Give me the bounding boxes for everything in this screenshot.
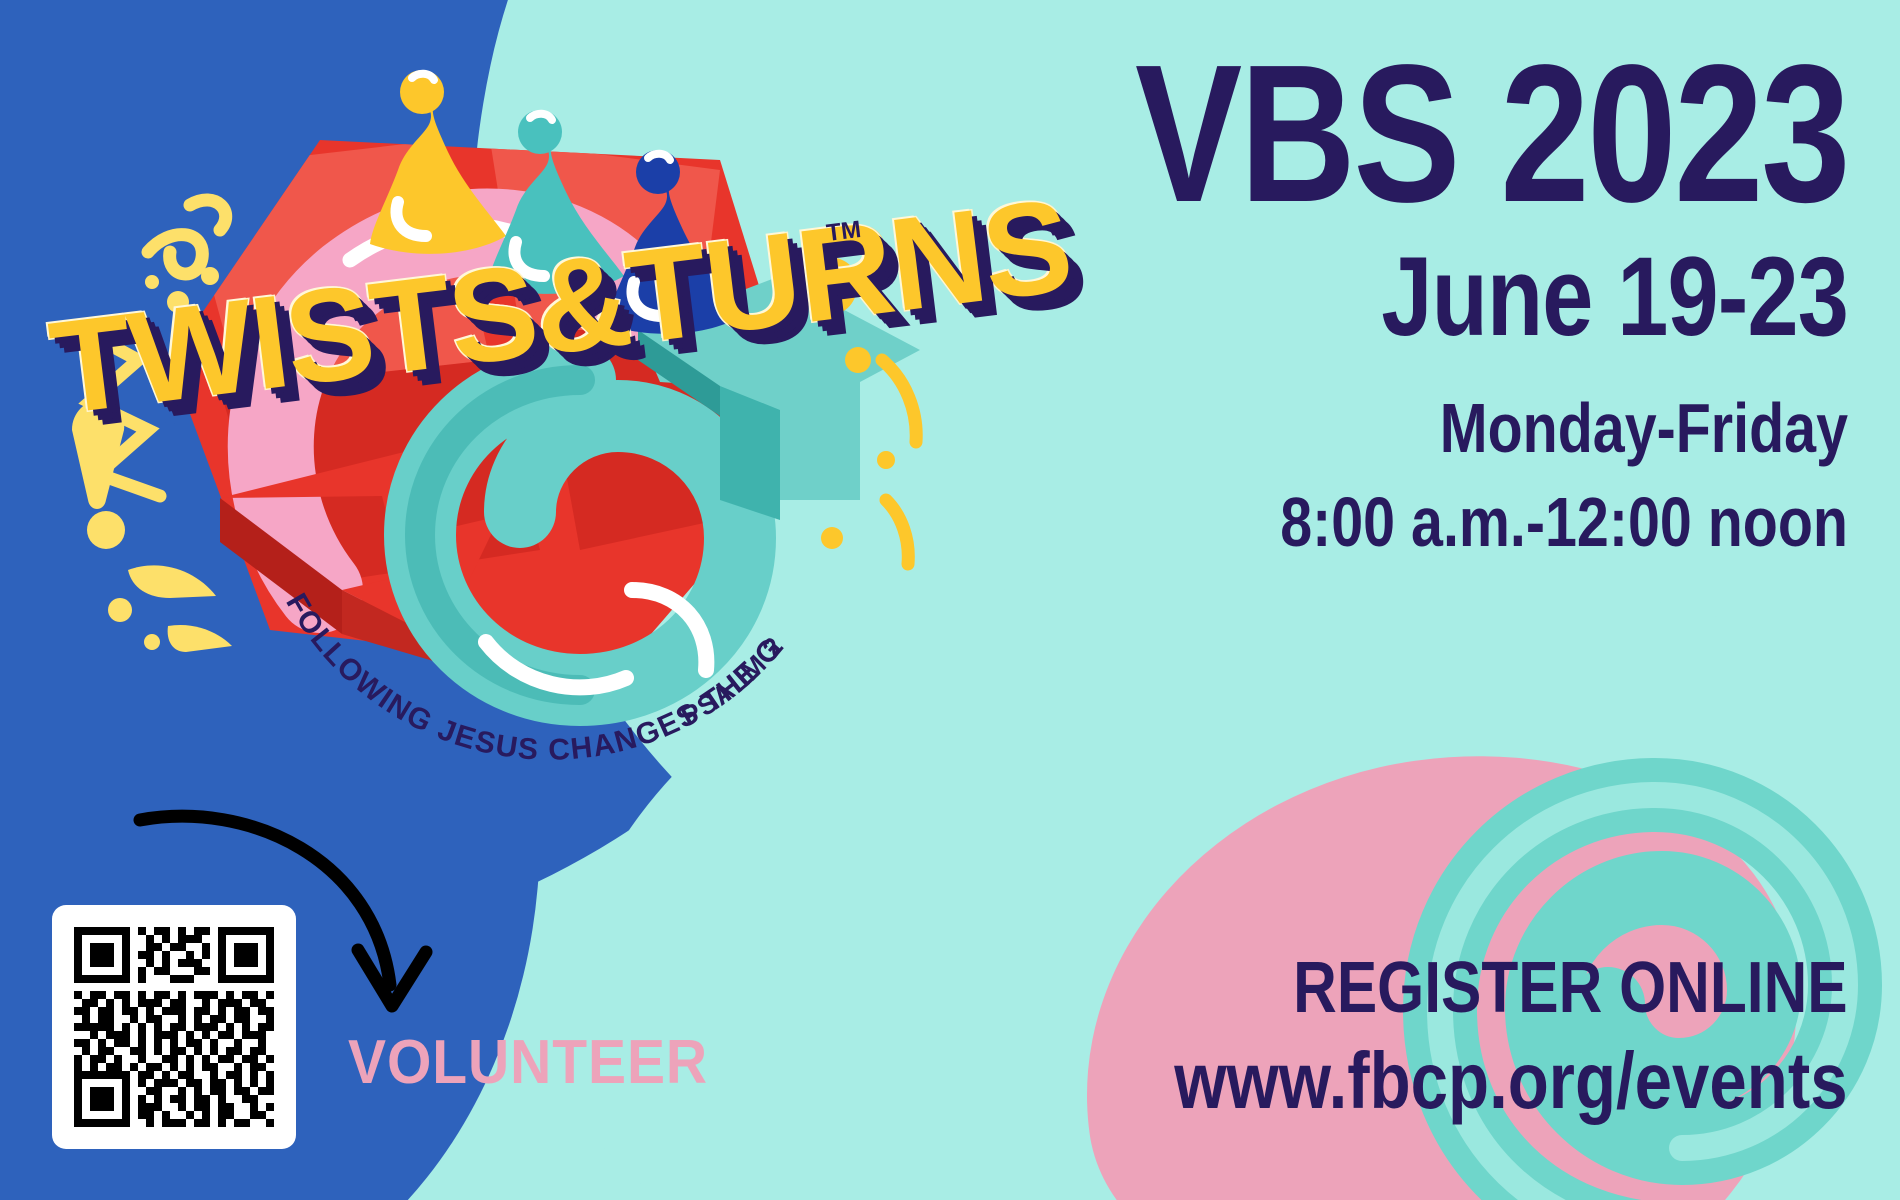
register-url[interactable]: www.fbcp.org/events — [1175, 1036, 1848, 1126]
event-days: Monday-Friday — [1135, 386, 1848, 470]
scripture-ref-text: PSALM 25:4 — [262, 496, 790, 732]
registration-block: REGISTER ONLINE www.fbcp.org/events — [1046, 948, 1848, 1126]
scripture-reference: PSALM 25:4 — [262, 496, 790, 732]
event-details: VBS 2023 June 19-23 Monday-Friday 8:00 a… — [978, 40, 1848, 564]
qr-code-icon[interactable] — [74, 927, 274, 1127]
page-title: VBS 2023 — [1135, 40, 1848, 228]
event-time: 8:00 a.m.-12:00 noon — [1135, 480, 1848, 564]
event-dates: June 19-23 — [1135, 234, 1848, 359]
volunteer-label[interactable]: VOLUNTEER — [348, 1032, 708, 1094]
trademark-mark: TM — [825, 216, 863, 248]
vbs-poster: TWISTS&TURNS TM FOLLOWING JESUS CHANGES … — [0, 0, 1900, 1200]
tagline-main: FOLLOWING JESUS CHANGES THE GAME — [257, 494, 790, 767]
qr-code-container[interactable] — [52, 905, 296, 1149]
tagline-text: FOLLOWING JESUS CHANGES THE GAME — [257, 494, 790, 767]
register-heading: REGISTER ONLINE — [1175, 948, 1848, 1029]
